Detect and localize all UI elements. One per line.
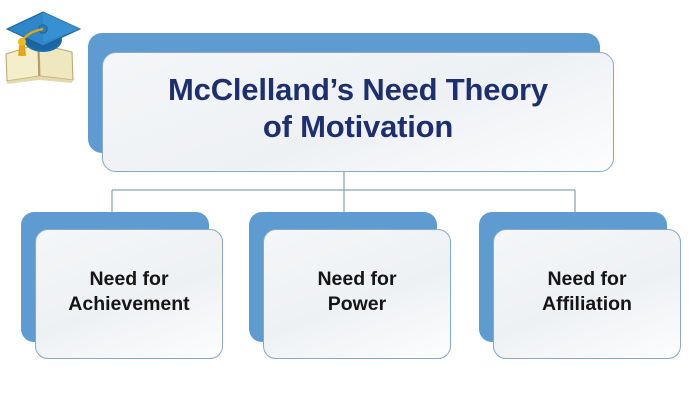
node-power-line2: Power — [328, 293, 387, 315]
node-power-line1: Need for — [317, 268, 396, 290]
node-affiliation-line1: Need for — [547, 268, 626, 290]
node-power-panel: Need forPower — [263, 229, 451, 359]
node-title-panel: McClelland’s Need Theoryof Motivation — [102, 52, 614, 172]
node-achievement-text: Need forAchievement — [60, 267, 197, 317]
node-achievement-line2: Achievement — [68, 293, 189, 315]
node-title[interactable]: McClelland’s Need Theoryof Motivation — [88, 33, 600, 153]
node-need-for-achievement[interactable]: Need forAchievement — [21, 212, 209, 342]
node-affiliation-panel: Need forAffiliation — [493, 229, 681, 359]
node-affiliation-line2: Affiliation — [542, 293, 632, 315]
node-need-for-affiliation[interactable]: Need forAffiliation — [479, 212, 667, 342]
node-title-line1: McClelland’s Need Theory — [168, 72, 548, 107]
node-affiliation-text: Need forAffiliation — [534, 267, 640, 317]
node-title-text: McClelland’s Need Theoryof Motivation — [154, 72, 562, 145]
graduation-cap-book-icon — [2, 2, 86, 86]
node-title-line2: of Motivation — [263, 109, 453, 144]
node-power-text: Need forPower — [309, 267, 404, 317]
node-achievement-panel: Need forAchievement — [35, 229, 223, 359]
diagram-canvas: McClelland’s Need Theoryof Motivation Ne… — [0, 0, 700, 400]
node-achievement-line1: Need for — [89, 268, 168, 290]
node-need-for-power[interactable]: Need forPower — [249, 212, 437, 342]
